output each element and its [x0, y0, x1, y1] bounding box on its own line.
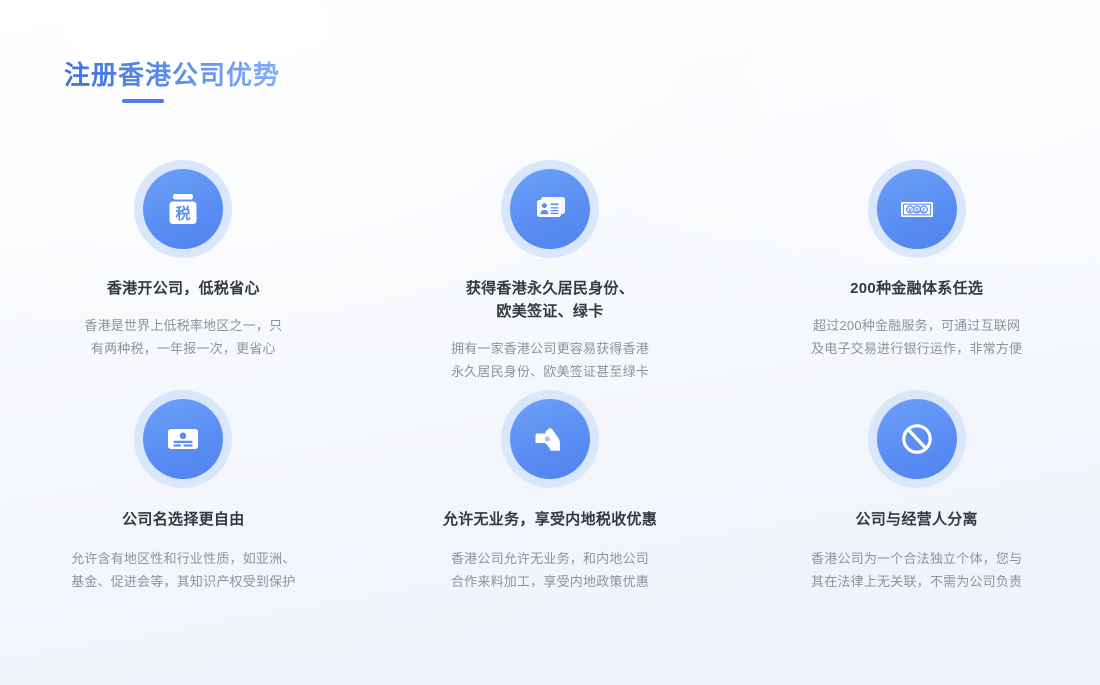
feature-title: 香港开公司，低税省心	[107, 277, 260, 300]
name-card-icon	[134, 390, 232, 488]
feature-description: 香港公司为一个合法独立个体，您与 其在法律上无关联，不需为公司负责	[811, 547, 1022, 593]
id-card-icon	[501, 160, 599, 258]
feature-card-separation[interactable]: 公司与经营人分离 香港公司为一个合法独立个体，您与 其在法律上无关联，不需为公司…	[733, 390, 1100, 620]
feature-card-no-business[interactable]: 允许无业务，享受内地税收优惠 香港公司允许无业务，和内地公司 合作来料加工，享受…	[367, 390, 734, 620]
feature-card-tax[interactable]: 税 香港开公司，低税省心 香港是世界上低税率地区之一，只 有两种税，一年报一次，…	[0, 160, 367, 390]
hand-holding-card-icon	[501, 390, 599, 488]
feature-description: 香港是世界上低税率地区之一，只 有两种税，一年报一次，更省心	[84, 314, 282, 360]
page-title: 注册香港公司优势	[64, 58, 280, 92]
features-grid: 税 香港开公司，低税省心 香港是世界上低税率地区之一，只 有两种税，一年报一次，…	[0, 160, 1100, 620]
feature-card-company-name[interactable]: 公司名选择更自由 允许含有地区性和行业性质，如亚洲、 基金、促进会等，其知识产权…	[0, 390, 367, 620]
feature-card-finance[interactable]: ¥ $ £ 200种金融体系任选 超过200种金融服务，可通过互联网 及电子交易…	[733, 160, 1100, 390]
tax-folder-icon: 税	[134, 160, 232, 258]
feature-card-residency[interactable]: 获得香港永久居民身份、 欧美签证、绿卡 拥有一家香港公司更容易获得香港 永久居民…	[367, 160, 734, 390]
tax-character: 税	[176, 205, 191, 223]
feature-title: 允许无业务，享受内地税收优惠	[443, 508, 657, 531]
banknote-currency-icon: ¥ $ £	[868, 160, 966, 258]
section-header: 注册香港公司优势	[64, 58, 280, 103]
currency-dollar-symbol: $	[915, 207, 919, 214]
feature-description: 允许含有地区性和行业性质，如亚洲、 基金、促进会等，其知识产权受到保护	[71, 547, 295, 593]
advantages-section: 注册香港公司优势 税 香港开公司，低税省心 香港是世界上低税率地区之一，只 有两…	[0, 0, 1100, 685]
feature-title: 获得香港永久居民身份、 欧美签证、绿卡	[466, 277, 634, 323]
feature-description: 超过200种金融服务，可通过互联网 及电子交易进行银行运作，非常方便	[811, 314, 1022, 360]
feature-description: 香港公司允许无业务，和内地公司 合作来料加工，享受内地政策优惠	[451, 547, 649, 593]
feature-title: 200种金融体系任选	[850, 277, 983, 300]
prohibited-circle-icon	[868, 390, 966, 488]
currency-pound-symbol: £	[922, 207, 926, 214]
feature-title: 公司名选择更自由	[122, 508, 244, 531]
feature-description: 拥有一家香港公司更容易获得香港 永久居民身份、欧美签证甚至绿卡	[451, 337, 649, 383]
title-underline-accent	[122, 99, 164, 103]
feature-title: 公司与经营人分离	[855, 508, 977, 531]
currency-yen-symbol: ¥	[908, 207, 912, 214]
